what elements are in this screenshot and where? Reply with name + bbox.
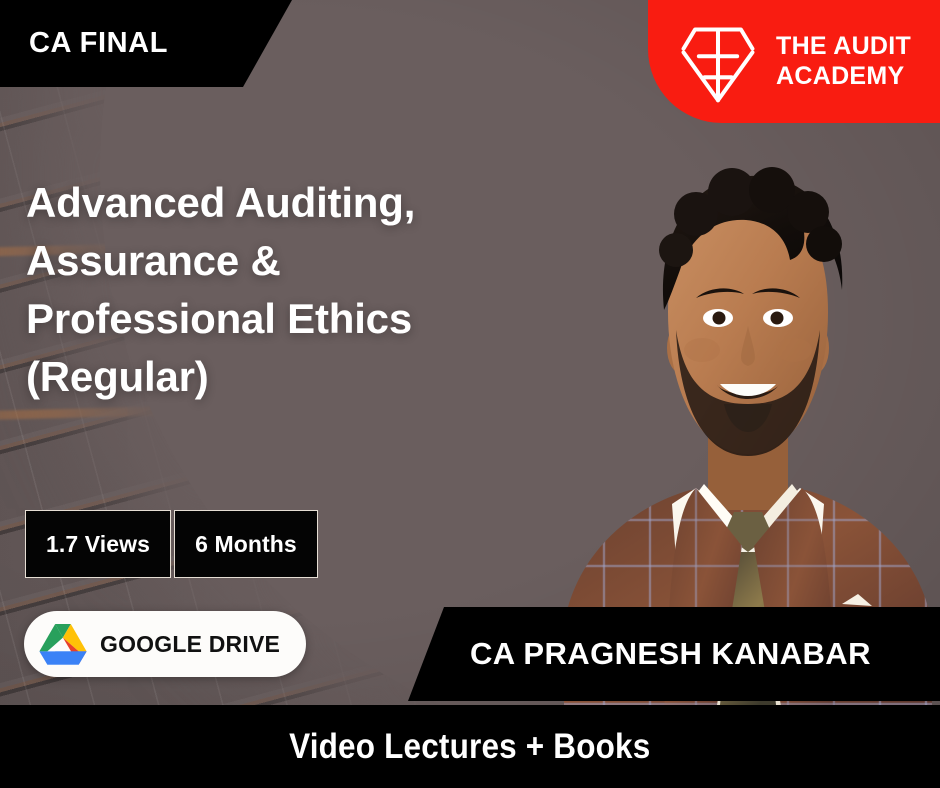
footer-bar: Video Lectures + Books	[0, 705, 940, 788]
course-promo-poster: CA FINAL THE AUDIT ACADEMY Advanced Audi…	[0, 0, 940, 788]
brand-name: THE AUDIT ACADEMY	[776, 32, 911, 91]
level-badge: CA FINAL	[0, 0, 292, 87]
meta-badge-validity-label: 6 Months	[195, 531, 297, 558]
brand-logo-badge: THE AUDIT ACADEMY	[648, 0, 940, 123]
course-title: Advanced Auditing, Assurance & Professio…	[26, 174, 536, 406]
diamond-gem-icon	[672, 18, 764, 106]
brand-name-line2: ACADEMY	[776, 62, 911, 92]
meta-badge-views: 1.7 Views	[25, 510, 171, 578]
brand-name-line1: THE AUDIT	[776, 32, 911, 62]
delivery-platform-label: GOOGLE DRIVE	[100, 631, 280, 658]
delivery-platform-badge: GOOGLE DRIVE	[24, 611, 306, 677]
instructor-name: CA PRAGNESH KANABAR	[408, 636, 871, 672]
level-badge-label: CA FINAL	[0, 27, 168, 60]
google-drive-icon	[38, 622, 88, 666]
meta-badge-views-label: 1.7 Views	[46, 531, 150, 558]
footer-label: Video Lectures + Books	[289, 727, 650, 767]
course-meta-badges: 1.7 Views 6 Months	[25, 510, 318, 578]
instructor-name-banner: CA PRAGNESH KANABAR	[408, 607, 940, 701]
meta-badge-validity: 6 Months	[174, 510, 318, 578]
